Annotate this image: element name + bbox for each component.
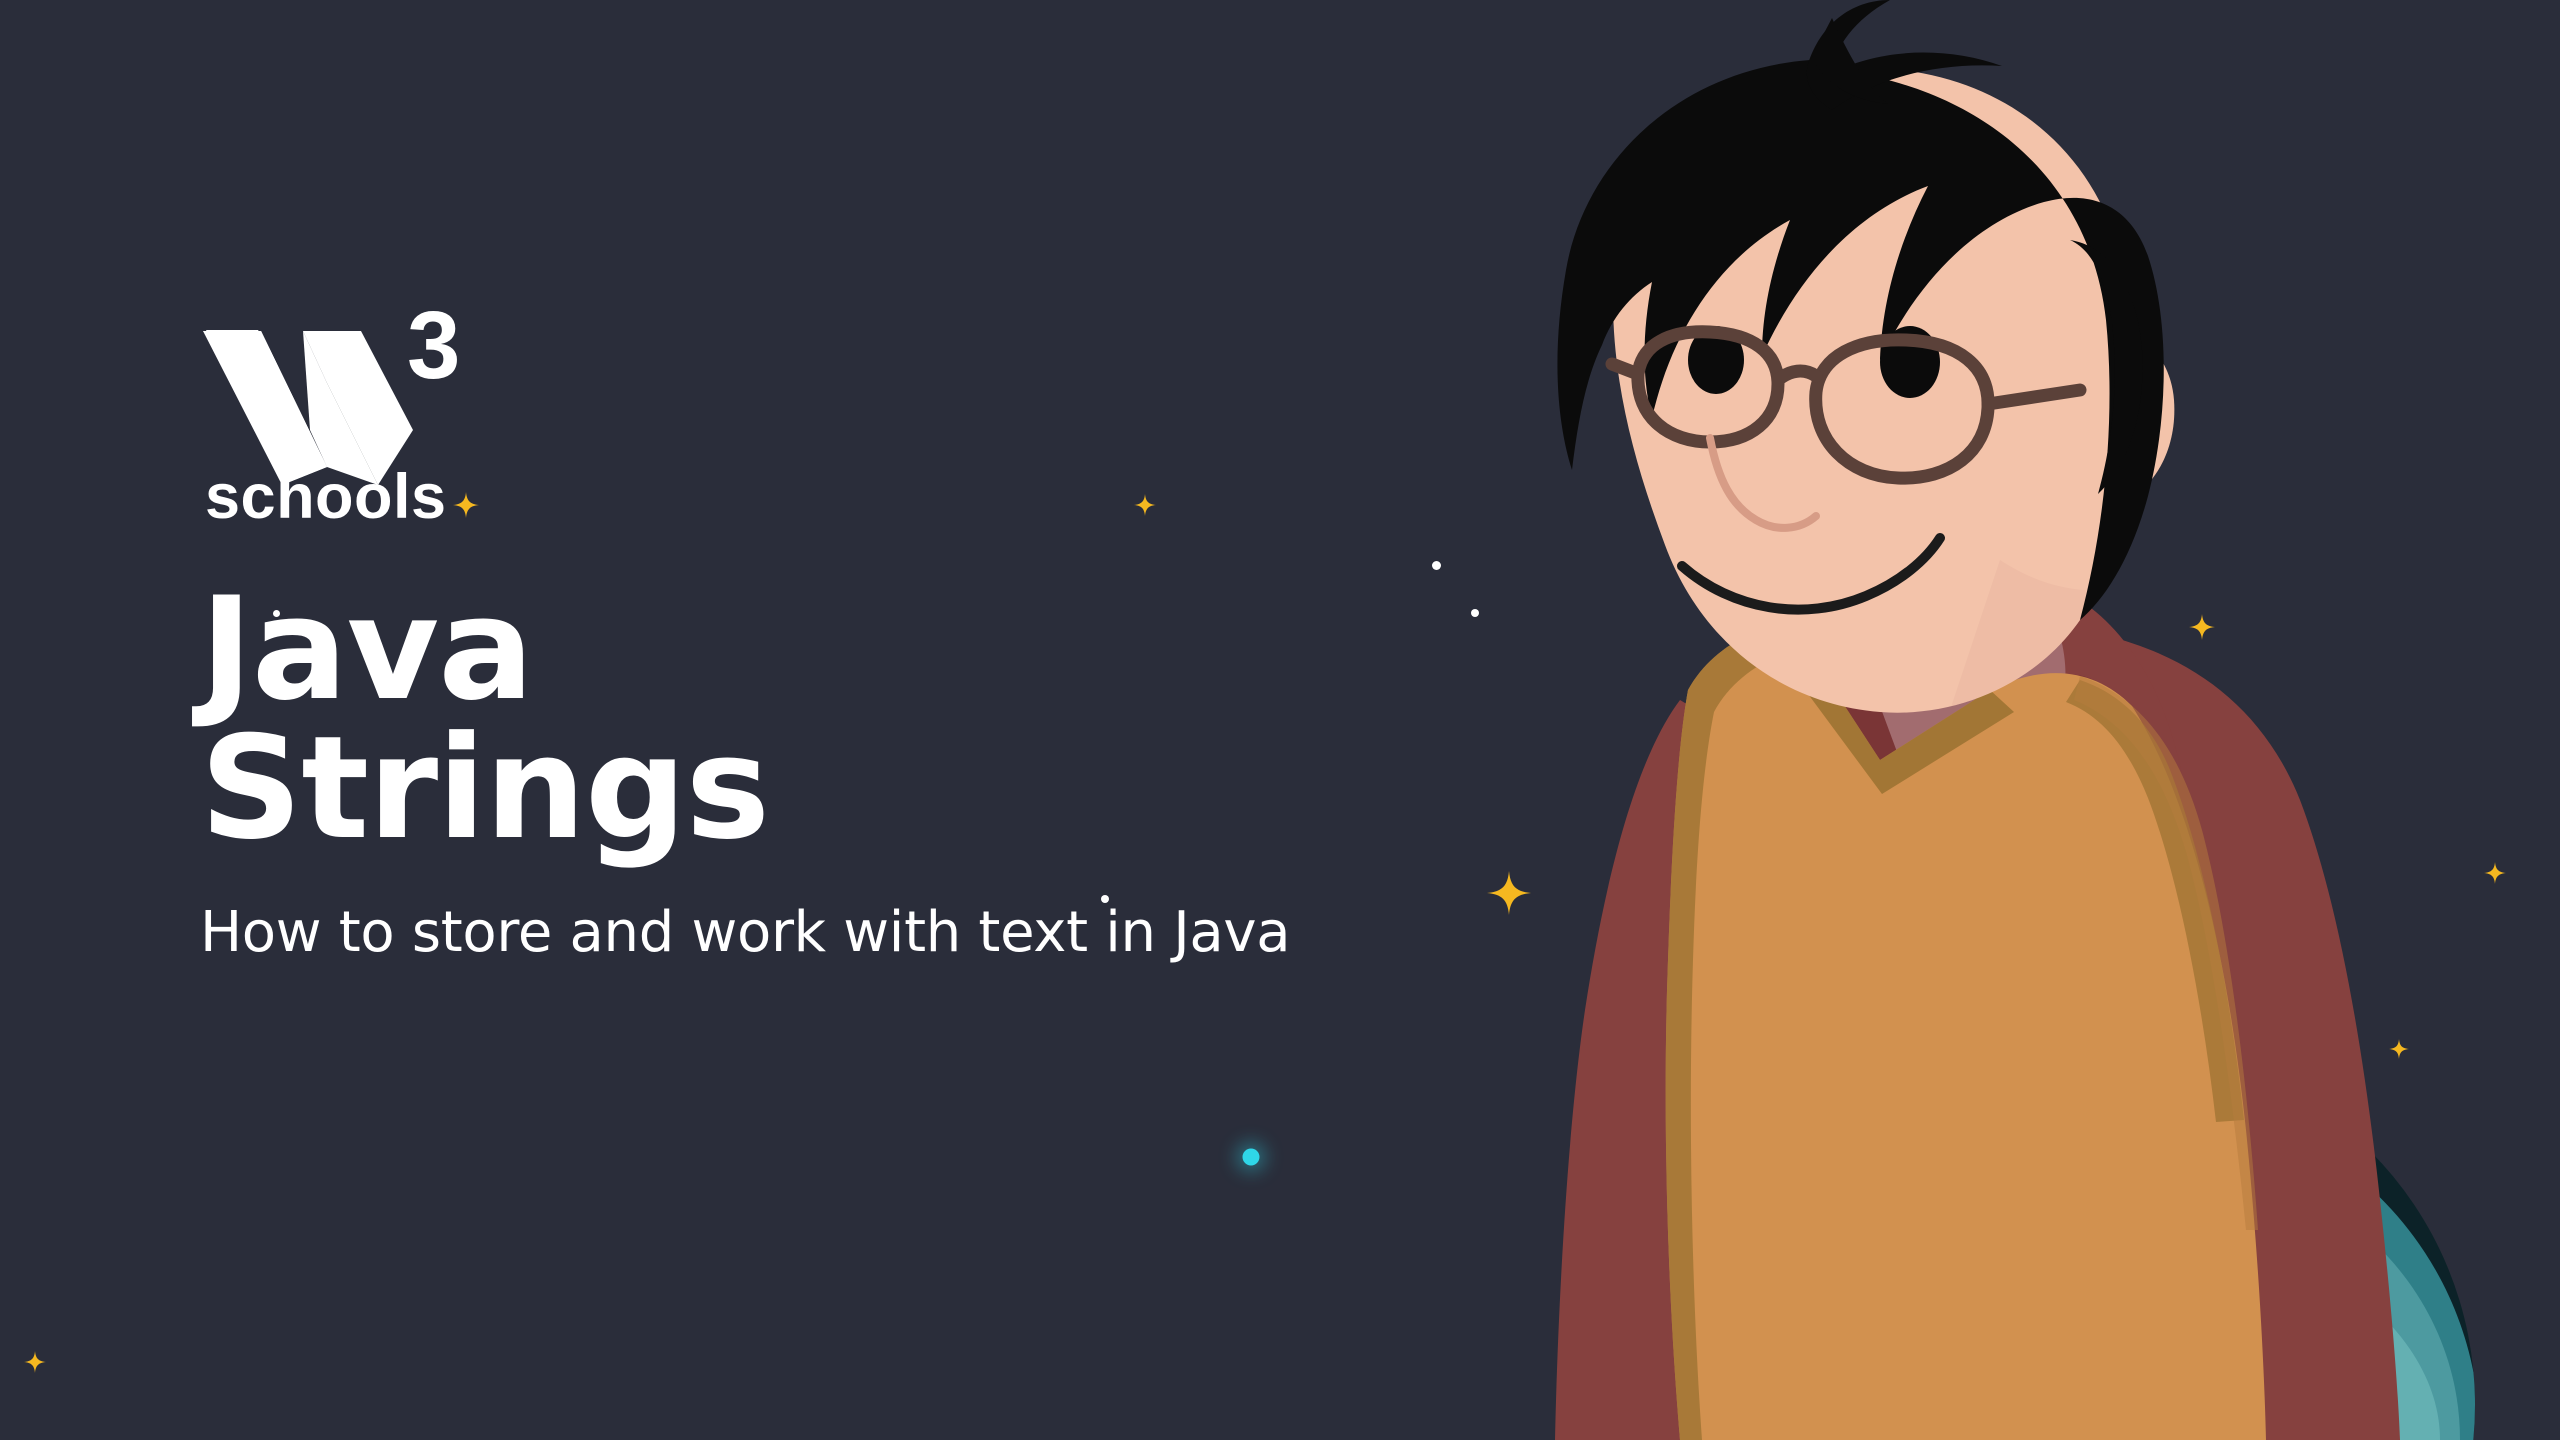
w3-mark-icon: 3: [200, 300, 490, 485]
glow-dot: [1243, 1149, 1260, 1166]
superscript-3: 3: [407, 300, 460, 399]
student-with-glasses-illustration: [1380, 0, 2560, 1440]
logo-wordmark: schools: [205, 466, 447, 529]
page-title: Java Strings: [200, 580, 1450, 858]
sparkle-star-icon: [24, 1351, 46, 1373]
w3schools-logo[interactable]: 3 schools: [200, 300, 500, 550]
hero-text-column: 3 schools Java Strings How to store and …: [200, 300, 1450, 964]
page-subtitle: How to store and work with text in Java: [200, 902, 1450, 964]
page-title-line-1: Java: [200, 580, 1450, 719]
hero-banner: 3 schools Java Strings How to store and …: [0, 0, 2560, 1440]
page-title-line-2: Strings: [200, 719, 1450, 858]
